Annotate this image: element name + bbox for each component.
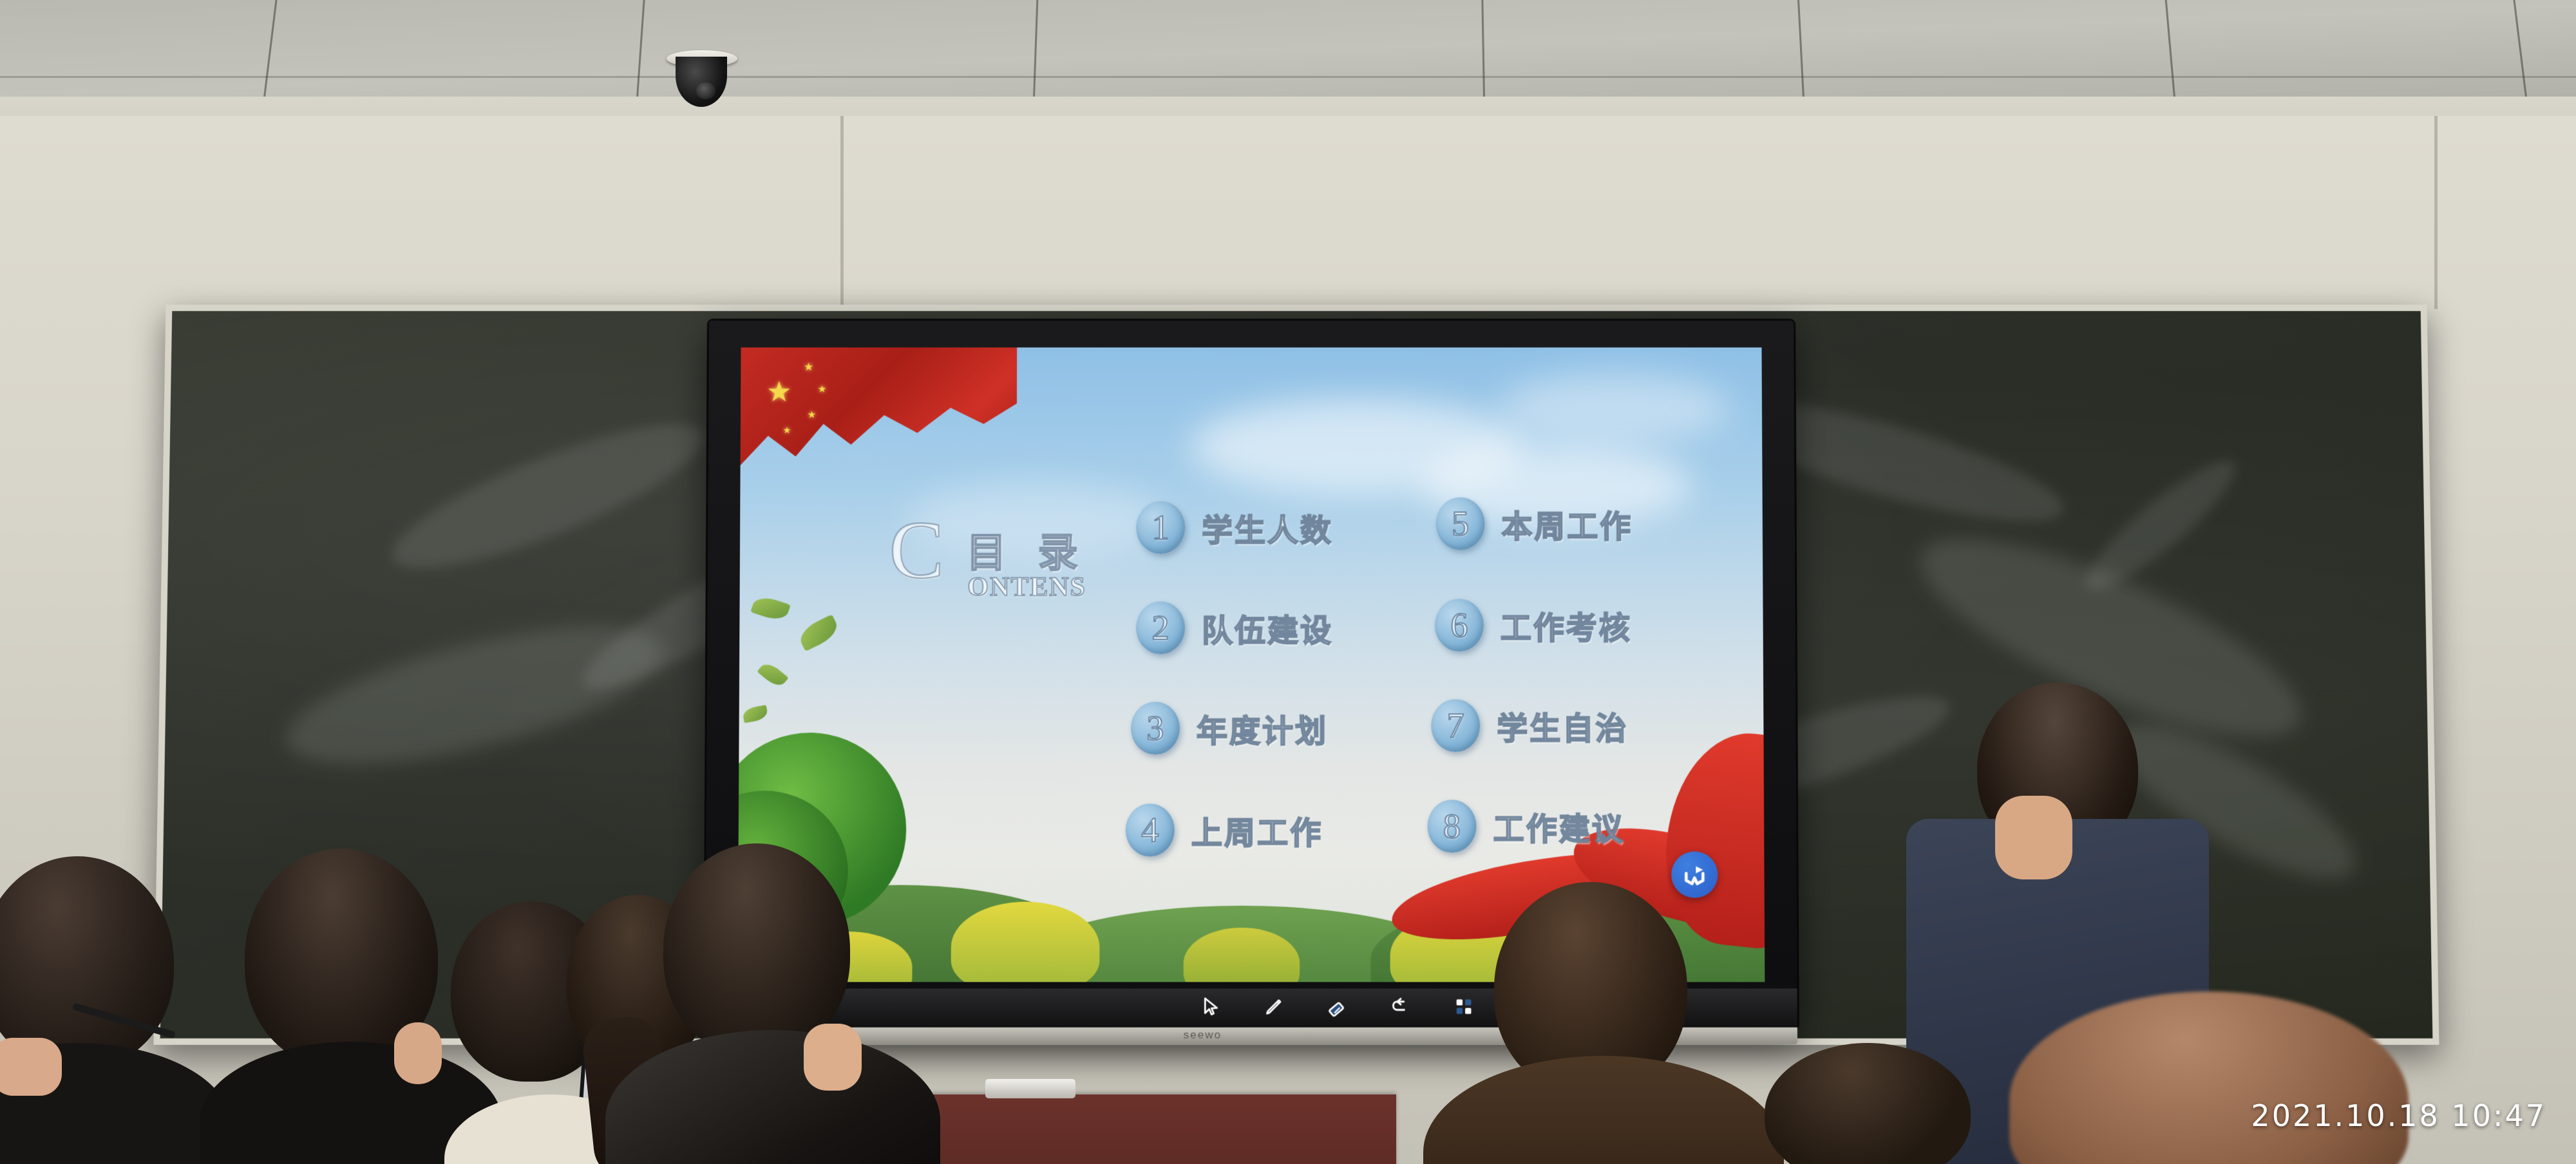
panel-brand-label: seewo xyxy=(1184,1029,1222,1042)
slide-menu-item[interactable]: 7 学生自治 xyxy=(1431,699,1628,752)
item-label: 工作建议 xyxy=(1493,803,1625,849)
slide-menu-item[interactable]: 6 工作考核 xyxy=(1435,599,1632,652)
desk-object xyxy=(985,1079,1075,1098)
slide-menu-item[interactable]: 1 学生人数 xyxy=(1136,501,1333,554)
assistant-logo-icon xyxy=(1680,860,1709,888)
pen-icon[interactable] xyxy=(1260,992,1288,1020)
apps-grid-icon[interactable] xyxy=(1450,992,1478,1020)
contents-initial-letter: C xyxy=(889,509,944,591)
slide-menu-item[interactable]: 5 本周工作 xyxy=(1436,498,1633,550)
leaf-icon xyxy=(757,660,788,690)
item-number-badge: 3 xyxy=(1131,702,1180,755)
chinese-flag-icon: ★ ★ ★ ★ ★ xyxy=(740,348,1017,495)
leaf-icon xyxy=(796,614,842,652)
item-number-badge: 2 xyxy=(1136,601,1185,654)
slide-menu-item[interactable]: 4 上周工作 xyxy=(1126,803,1323,856)
item-label: 队伍建设 xyxy=(1202,605,1333,650)
contents-title-cn: 目 录 xyxy=(966,520,1088,578)
select-cursor-icon[interactable] xyxy=(1197,992,1225,1020)
item-number-badge: 1 xyxy=(1136,501,1185,554)
item-label: 工作考核 xyxy=(1501,603,1632,648)
item-number-badge: 4 xyxy=(1126,803,1175,856)
item-label: 本周工作 xyxy=(1501,501,1633,546)
item-number-badge: 5 xyxy=(1436,498,1485,550)
photo-timestamp: 2021.10.18 10:47 xyxy=(2251,1098,2546,1133)
leaf-icon xyxy=(750,594,791,623)
autumn-bush xyxy=(951,902,1100,982)
seewo-assistant-fab[interactable] xyxy=(1671,851,1718,897)
item-label: 学生人数 xyxy=(1202,505,1333,550)
undo-icon[interactable] xyxy=(1387,992,1415,1020)
classroom-photo-scene: ★ ★ ★ ★ ★ xyxy=(0,0,2576,1164)
eraser-icon[interactable] xyxy=(1323,992,1351,1020)
item-label: 学生自治 xyxy=(1497,703,1628,748)
camera-dome-icon xyxy=(676,57,727,107)
item-number-badge: 6 xyxy=(1435,599,1484,652)
leaf-icon xyxy=(742,705,768,723)
item-label: 年度计划 xyxy=(1197,706,1328,751)
ceiling-dome-camera xyxy=(667,50,737,121)
slide-contents-title: C 目 录 ONTENS xyxy=(889,512,1159,609)
slide-menu-item[interactable]: 3 年度计划 xyxy=(1131,702,1328,755)
item-label: 上周工作 xyxy=(1191,807,1323,852)
neck-face xyxy=(1995,796,2072,879)
contents-title-sub: ONTENS xyxy=(967,572,1086,603)
slide-menu-item[interactable]: 2 队伍建设 xyxy=(1136,601,1333,654)
item-number-badge: 7 xyxy=(1431,699,1480,752)
item-number-badge: 8 xyxy=(1427,800,1476,852)
camera-lens xyxy=(696,82,715,99)
slide-menu-item[interactable]: 8 工作建议 xyxy=(1427,800,1625,852)
